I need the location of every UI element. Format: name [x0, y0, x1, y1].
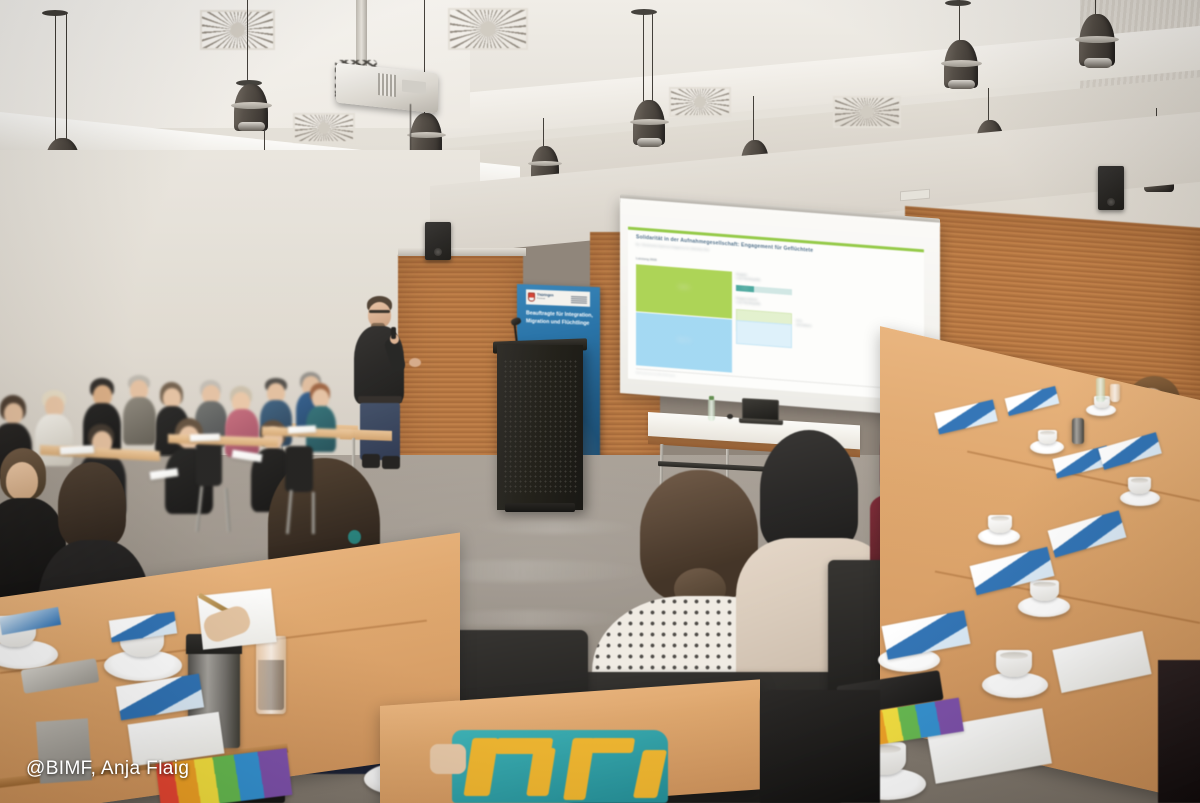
water-bottle	[708, 399, 715, 421]
lamp-cord	[55, 14, 56, 140]
chart-bar-value: 22 %	[736, 286, 754, 291]
laptop-mouse[interactable]	[727, 414, 733, 419]
chair-leg	[312, 492, 315, 534]
lamp-cord	[247, 0, 248, 84]
logo-text: Thüringen Freistaat	[537, 294, 554, 301]
person-silhouette	[1158, 660, 1200, 803]
headscarf-black	[760, 430, 858, 550]
ceiling-air-vent	[293, 113, 355, 143]
water-glass	[1110, 384, 1120, 402]
glasses-icon	[369, 310, 390, 313]
coat-of-arms-icon	[528, 292, 535, 301]
lamp-ring	[528, 161, 562, 166]
coffee-cup	[988, 515, 1012, 533]
lamp-ring	[407, 132, 446, 138]
lamp-cord	[66, 14, 67, 140]
lamp-light	[238, 122, 265, 131]
lamp-cord	[643, 13, 644, 101]
lamp-cord	[753, 96, 754, 144]
floor-highlight	[470, 520, 640, 534]
lamp-ring	[1075, 36, 1119, 43]
slide-footer-rule	[636, 368, 916, 390]
lamp-light	[637, 138, 662, 147]
chart-legend-engaged: Engagiert in der Flüchtlingshilfe	[736, 273, 788, 285]
teal-tote-bag	[452, 730, 668, 803]
presenter-shoe	[362, 454, 380, 468]
conference-room-photo: Solidarität in der Aufnahmegesellschaft:…	[0, 0, 1200, 803]
presenter-belt	[358, 396, 402, 403]
coffee-cup	[1038, 430, 1057, 444]
coffee-cup	[1030, 580, 1059, 601]
lectern-grille	[503, 359, 577, 494]
lamp-cord	[543, 118, 544, 148]
microphone-handheld	[391, 327, 396, 339]
lamp-ceiling-mount	[945, 0, 971, 6]
lamp-cord	[652, 13, 653, 101]
photo-credit-watermark: @BIMF, Anja Flaig	[26, 758, 189, 780]
logo-ministry-mark	[571, 295, 587, 304]
thueringen-logo: Thüringen Freistaat	[526, 289, 590, 306]
conference-chair[interactable]	[285, 446, 313, 492]
lamp-light	[1084, 58, 1112, 68]
ceiling-air-vent	[833, 96, 901, 128]
floor-highlight	[430, 610, 630, 626]
presenter-shoe	[382, 456, 400, 469]
lamp-cord	[959, 0, 960, 42]
wall-speaker	[1098, 166, 1124, 210]
lamp-ring	[630, 119, 669, 125]
handout-paper	[190, 433, 220, 441]
wall-speaker	[425, 222, 451, 260]
earring	[348, 530, 361, 544]
conference-chair[interactable]	[196, 442, 222, 486]
ceiling-air-vent	[448, 8, 528, 50]
lamp-ring	[941, 60, 982, 67]
speaker-lectern	[497, 345, 583, 510]
coffee-cup	[996, 650, 1032, 677]
chart-side-note: 24 % nicht bekannt	[796, 320, 836, 331]
chair-silhouette	[760, 690, 880, 803]
wall-trim	[398, 248, 526, 256]
chart-block-light-blue	[736, 320, 792, 348]
slide-chart-caption: Leistung 2018	[636, 256, 657, 262]
chart-block-green-label: 38 38 %	[636, 281, 732, 292]
bottle-cap	[709, 396, 714, 400]
slide-footer: BIM Ifug Bundesweite Aktuell Befragung	[636, 372, 675, 377]
lamp-ceiling-mount	[631, 9, 657, 15]
lamp-light	[948, 80, 975, 89]
hand	[430, 744, 466, 774]
presenter-hand-left	[409, 358, 421, 367]
ceiling-air-vent	[200, 10, 275, 50]
chart-block-blue: 55% 55 %	[636, 312, 732, 372]
travel-mug	[1072, 418, 1084, 444]
banner-headline: Beauftragte für Integration, Migration u…	[526, 310, 594, 328]
projector-mount-pole	[356, 0, 367, 66]
handout-paper	[288, 425, 316, 433]
water-bottle	[1096, 378, 1105, 402]
lamp-cord	[988, 88, 989, 124]
lectern-base	[505, 503, 575, 512]
coffee-cup	[1128, 477, 1151, 494]
chart-legend-willing: Engagementbereit in der Flüchtlingshilfe	[736, 297, 788, 309]
glass-contents	[258, 660, 284, 710]
chart-block-blue-label: 55% 55 %	[636, 334, 732, 345]
ceiling-air-vent	[669, 87, 731, 117]
chart-block-green: 38 38 %	[636, 264, 732, 318]
chart-bar-fill: 22 %	[736, 285, 754, 292]
logo-subtitle: Freistaat	[537, 298, 554, 301]
lamp-ring	[231, 102, 272, 109]
